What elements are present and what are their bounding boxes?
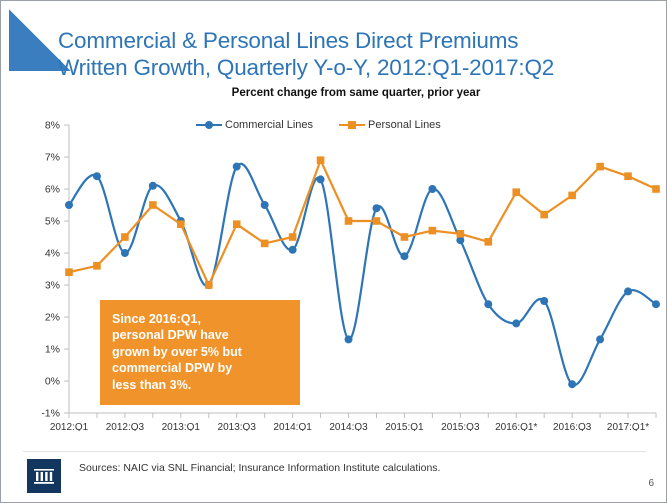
page-title-line-1: Commercial & Personal Lines Direct Premi… xyxy=(58,27,654,54)
callout-line-2: personal DPW have xyxy=(112,327,290,343)
data-point-personal xyxy=(457,230,465,238)
x-axis-tick-label: 2013:Q3 xyxy=(218,422,257,431)
y-axis-tick-label: 5% xyxy=(45,216,60,228)
data-point-personal xyxy=(317,156,325,164)
data-point-commercial xyxy=(149,182,157,190)
data-point-personal xyxy=(177,220,185,228)
data-point-commercial xyxy=(261,201,269,209)
page-title-line-2: Written Growth, Quarterly Y-o-Y, 2012:Q1… xyxy=(58,54,654,81)
data-point-personal xyxy=(484,238,492,246)
data-point-personal xyxy=(289,233,297,241)
data-point-commercial xyxy=(428,185,436,193)
data-point-personal xyxy=(568,192,576,200)
data-point-commercial xyxy=(652,300,660,308)
y-axis-tick-label: 6% xyxy=(45,184,60,196)
data-point-commercial xyxy=(540,297,548,305)
x-axis-tick-label: 2013:Q1 xyxy=(162,422,201,431)
data-point-personal xyxy=(401,233,409,241)
data-point-personal xyxy=(233,220,241,228)
data-point-commercial xyxy=(624,287,632,295)
footer-divider xyxy=(23,451,646,452)
chart-subtitle: Percent change from same quarter, prior … xyxy=(58,87,654,99)
data-point-commercial xyxy=(345,335,353,343)
data-point-commercial xyxy=(372,204,380,212)
y-axis-tick-label: -1% xyxy=(41,408,60,420)
sources-note: Sources: NAIC via SNL Financial; Insuran… xyxy=(79,462,599,474)
data-point-commercial xyxy=(400,252,408,260)
y-axis-tick-label: 4% xyxy=(45,248,60,260)
data-point-personal xyxy=(596,163,604,171)
callout-box: Since 2016:Q1, personal DPW have grown b… xyxy=(100,300,300,405)
data-point-commercial xyxy=(512,319,520,327)
data-point-personal xyxy=(65,268,73,276)
iii-logo-icon xyxy=(27,459,61,493)
y-axis-tick-label: 2% xyxy=(45,312,60,324)
data-point-personal xyxy=(345,217,353,225)
page-number: 6 xyxy=(648,478,654,489)
y-axis-tick-label: 7% xyxy=(45,152,60,164)
callout-line-3: grown by over 5% but xyxy=(112,344,290,360)
y-axis-tick-label: 3% xyxy=(45,280,60,292)
y-axis-tick-label: 1% xyxy=(45,344,60,356)
x-axis-tick-label: 2012:Q1 xyxy=(50,422,89,431)
y-axis-tick-label: 0% xyxy=(45,376,60,388)
data-point-commercial xyxy=(233,163,241,171)
data-point-personal xyxy=(429,227,437,235)
data-point-commercial xyxy=(65,201,73,209)
x-axis-tick-label: 2016:Q3 xyxy=(553,422,592,431)
callout-line-1: Since 2016:Q1, xyxy=(112,311,290,327)
data-point-commercial xyxy=(596,335,604,343)
data-point-personal xyxy=(652,185,660,193)
x-axis-tick-label: 2016:Q1* xyxy=(495,422,537,431)
x-axis-tick-label: 2012:Q3 xyxy=(106,422,145,431)
data-point-commercial xyxy=(121,249,129,257)
institute-building-icon xyxy=(33,466,55,486)
data-point-commercial xyxy=(317,175,325,183)
slide-canvas: Commercial & Personal Lines Direct Premi… xyxy=(0,0,667,503)
callout-line-4: commercial DPW by xyxy=(112,360,290,376)
x-axis-tick-label: 2014:Q3 xyxy=(329,422,368,431)
data-point-personal xyxy=(624,172,632,180)
series-line-personal xyxy=(69,160,656,285)
data-point-commercial xyxy=(568,380,576,388)
data-point-personal xyxy=(121,233,129,241)
y-axis-tick-label: 8% xyxy=(45,120,60,132)
x-axis-tick-label: 2014:Q1 xyxy=(273,422,312,431)
data-point-commercial xyxy=(289,246,297,254)
page-title: Commercial & Personal Lines Direct Premi… xyxy=(58,27,654,81)
callout-line-5: less than 3%. xyxy=(112,377,290,393)
data-point-personal xyxy=(261,240,269,248)
data-point-personal xyxy=(512,188,520,196)
x-axis-tick-label: 2015:Q3 xyxy=(441,422,480,431)
x-axis-tick-label: 2015:Q1 xyxy=(385,422,424,431)
data-point-commercial xyxy=(484,300,492,308)
data-point-personal xyxy=(149,201,157,209)
data-point-personal xyxy=(93,262,101,270)
data-point-personal xyxy=(373,217,381,225)
x-axis-tick-label: 2017:Q1* xyxy=(607,422,649,431)
data-point-commercial xyxy=(93,172,101,180)
data-point-personal xyxy=(205,281,213,289)
data-point-personal xyxy=(540,211,548,219)
